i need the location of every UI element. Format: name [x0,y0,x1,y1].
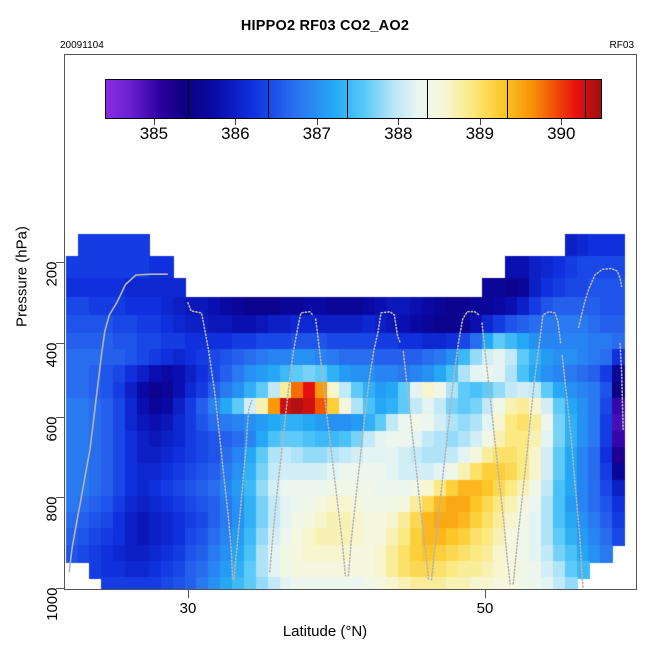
x-tick-50 [485,590,486,598]
x-tick-label-30: 30 [180,600,197,617]
flight-number-label: RF03 [610,40,634,51]
x-axis-label: Latitude (°N) [0,623,650,640]
flight-track-segment-8 [482,323,510,584]
heatmap-plot-area [65,55,636,589]
flight-track-segment-5 [348,312,400,576]
flight-track-segment-10 [562,356,583,588]
flight-track-segment-6 [403,352,428,580]
flight-track-segment-12 [620,344,623,430]
y-tick-label-1000: 1000 [44,588,61,621]
x-tick-30 [188,590,189,598]
flight-track-segment-3 [270,312,313,572]
flight-track-segment-11 [579,269,622,328]
y-axis-label: Pressure (hPa) [14,197,31,357]
y-tick-label-600: 600 [44,417,61,442]
flight-track-segment-2 [234,401,252,580]
date-label: 20091104 [60,40,104,51]
y-tick-label-800: 800 [44,497,61,522]
page-title: HIPPO2 RF03 CO2_AO2 [0,18,650,34]
flight-track-segment-0 [69,274,167,572]
flight-track-segment-7 [432,312,480,580]
flight-track-segment-4 [316,319,346,576]
y-tick-label-400: 400 [44,343,61,368]
flight-track-segment-9 [513,312,561,584]
y-tick-label-200: 200 [44,262,61,287]
x-tick-label-50: 50 [477,600,494,617]
flight-track-segment-1 [188,303,233,580]
flight-track-overlay [65,55,636,589]
figure-canvas: HIPPO2 RF03 CO2_AO2 20091104 RF03 385386… [0,0,650,650]
